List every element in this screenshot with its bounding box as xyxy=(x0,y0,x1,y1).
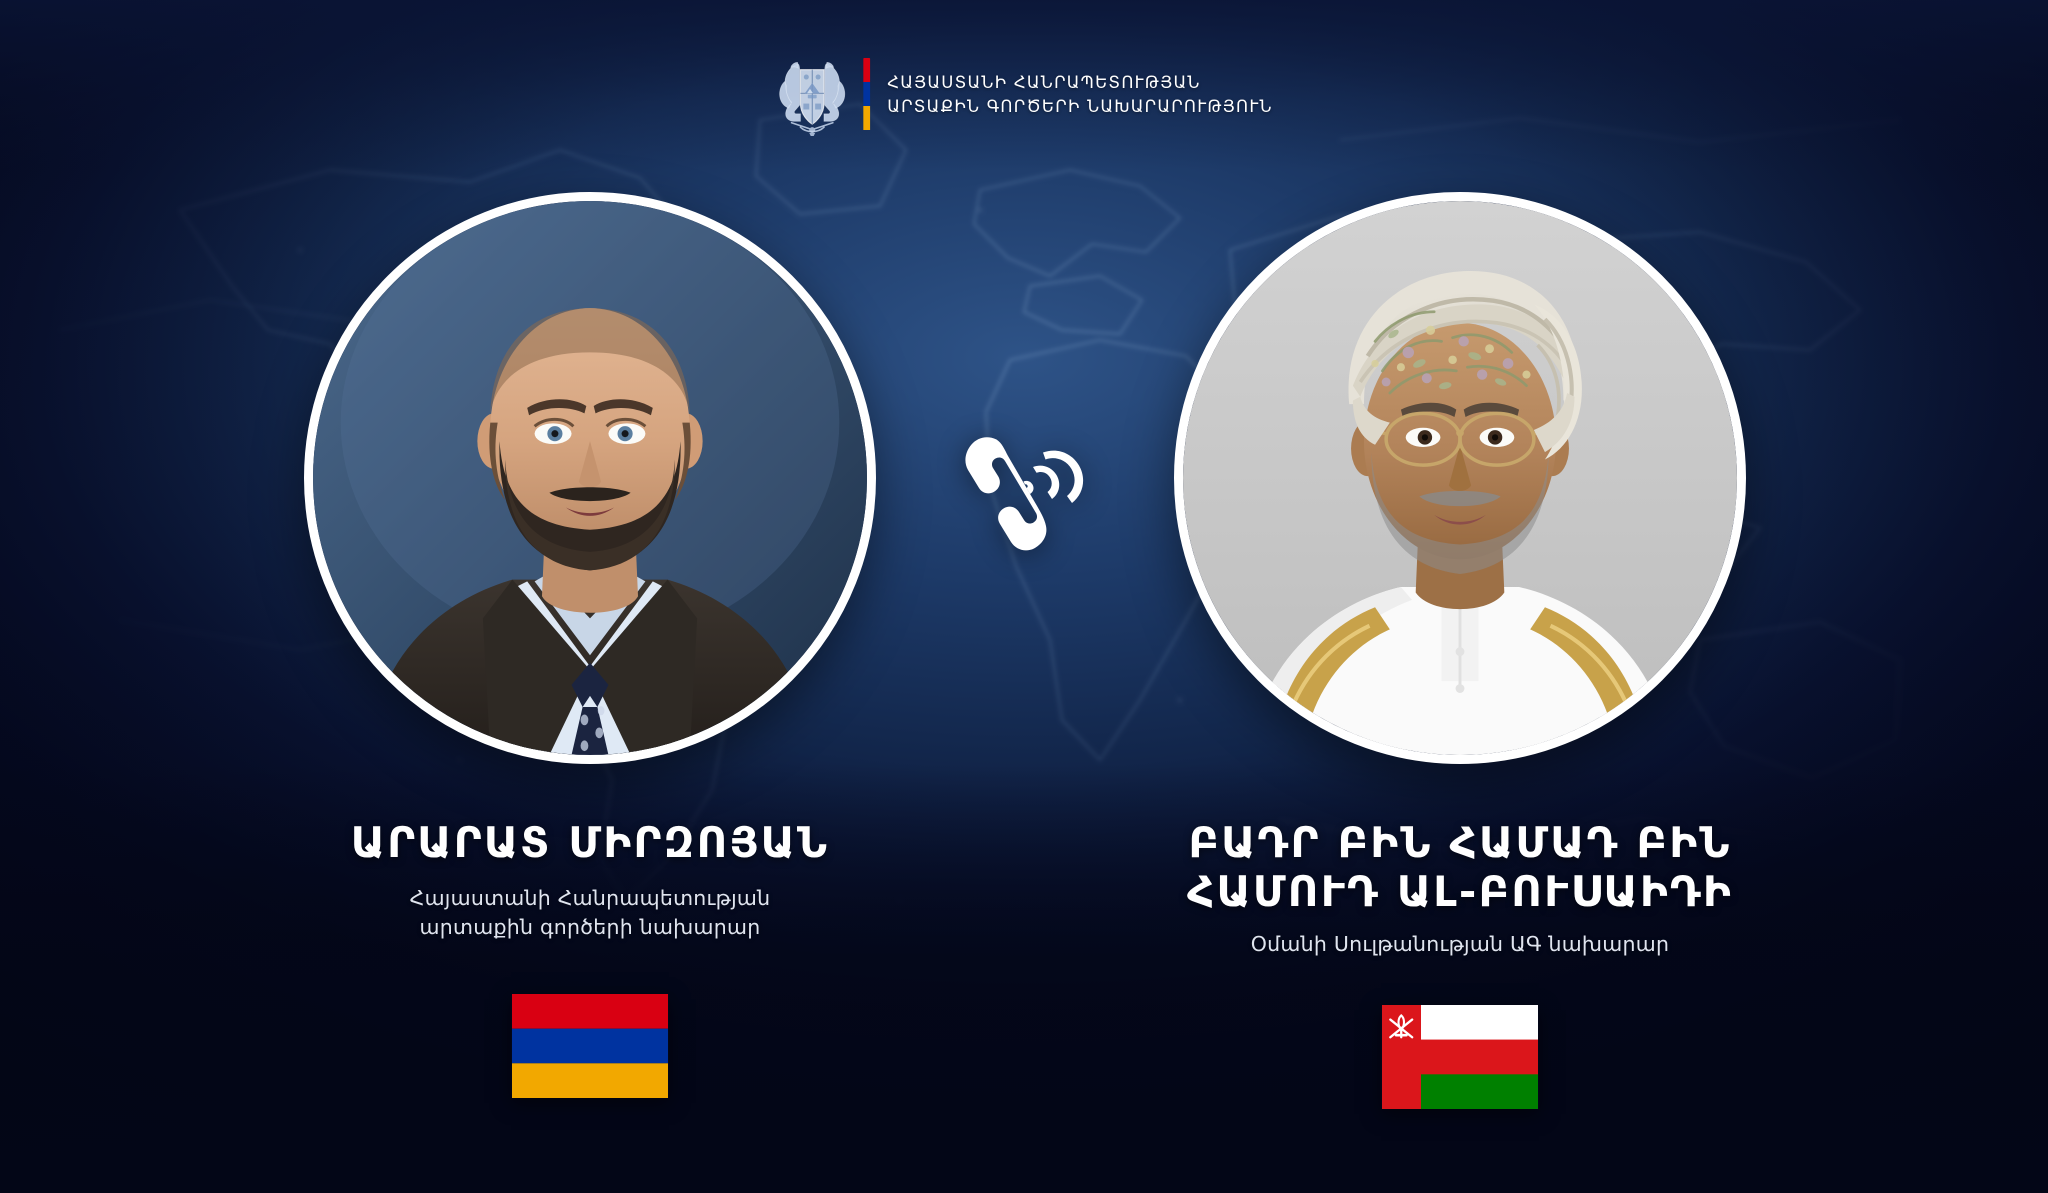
official-card-right: ԲԱԴՐ ԲԻՆ ՀԱՄԱԴ ԲԻՆ ՀԱՄՈՒԴ ԱԼ-ԲՈՒՍԱԻԴԻ Օմ… xyxy=(1155,192,1765,1109)
official-nameblock-left: ԱՐԱՐԱՏ ՄԻՐԶՈՅԱՆ Հայաստանի Հանրապետության… xyxy=(270,818,910,942)
phone-call-icon xyxy=(960,428,1088,570)
official-title-right: Օմանի Սուլթանության ԱԳ նախարար xyxy=(1140,930,1780,959)
ministry-title: ՀԱՅԱՍՏԱՆԻ ՀԱՆՐԱՊԵՏՈՒԹՅԱՆ ԱՐՏԱՔԻՆ ԳՈՐԾԵՐԻ… xyxy=(887,73,1273,116)
official-nameblock-right: ԲԱԴՐ ԲԻՆ ՀԱՄԱԴ ԲԻՆ ՀԱՄՈՒԴ ԱԼ-ԲՈՒՍԱԻԴԻ Օմ… xyxy=(1140,818,1780,959)
armenia-tricolor-bar-icon xyxy=(863,58,870,131)
official-card-left: ԱՐԱՐԱՏ ՄԻՐԶՈՅԱՆ Հայաստանի Հանրապետության… xyxy=(285,192,895,1098)
poster-canvas: ՀԱՅԱՍՏԱՆԻ ՀԱՆՐԱՊԵՏՈՒԹՅԱՆ ԱՐՏԱՔԻՆ ԳՈՐԾԵՐԻ… xyxy=(0,0,2048,1193)
armenia-coat-of-arms-icon xyxy=(775,52,849,136)
flag-oman xyxy=(1381,1005,1539,1109)
portrait-badr-al-busaidi xyxy=(1174,192,1746,764)
official-title-left: Հայաստանի Հանրապետության արտաքին գործերի… xyxy=(270,884,910,942)
ministry-title-line-2: ԱՐՏԱՔԻՆ ԳՈՐԾԵՐԻ ՆԱԽԱՐԱՐՈՒԹՅՈՒՆ xyxy=(887,97,1273,116)
portrait-ararat-mirzoyan xyxy=(304,192,876,764)
ministry-title-line-1: ՀԱՅԱՍՏԱՆԻ ՀԱՆՐԱՊԵՏՈՒԹՅԱՆ xyxy=(887,73,1273,92)
ministry-header: ՀԱՅԱՍՏԱՆԻ ՀԱՆՐԱՊԵՏՈՒԹՅԱՆ ԱՐՏԱՔԻՆ ԳՈՐԾԵՐԻ… xyxy=(775,52,1273,136)
official-name-right: ԲԱԴՐ ԲԻՆ ՀԱՄԱԴ ԲԻՆ ՀԱՄՈՒԴ ԱԼ-ԲՈՒՍԱԻԴԻ xyxy=(1140,818,1780,916)
officials-row: ԱՐԱՐԱՏ ՄԻՐԶՈՅԱՆ Հայաստանի Հանրապետության… xyxy=(0,0,2048,1193)
official-name-left: ԱՐԱՐԱՏ ՄԻՐԶՈՅԱՆ xyxy=(270,818,910,867)
flag-armenia xyxy=(511,994,669,1098)
